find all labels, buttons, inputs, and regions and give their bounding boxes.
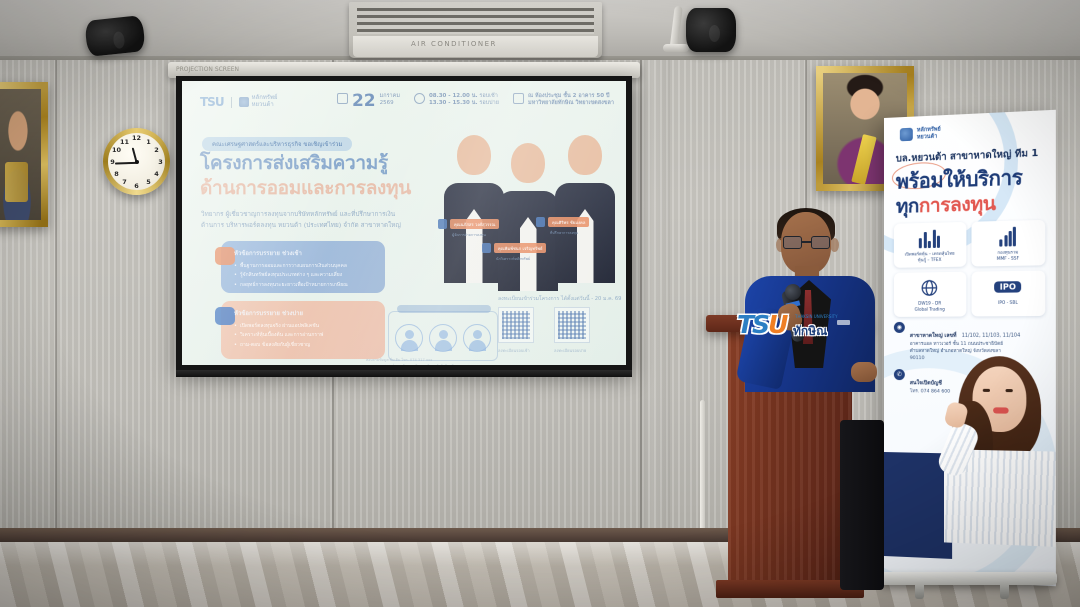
podium-logo: TSU THAKSIN UNIVERSITY ทักษิณ bbox=[737, 310, 841, 342]
speaker-photo bbox=[444, 135, 504, 283]
time-note-2: รอบบ่าย bbox=[479, 100, 499, 106]
slide-badge: คณะเศรษฐศาสตร์และบริหารธุรกิจ ขอเชิญเข้า… bbox=[202, 137, 352, 151]
speaker-legs bbox=[840, 420, 884, 590]
royal-sash bbox=[851, 134, 877, 185]
yuanta-mark-icon bbox=[900, 128, 913, 142]
yuanta-line2: หยวนต้า bbox=[252, 101, 274, 108]
yuanta-text: หลักทรัพย์ หยวนต้า bbox=[252, 95, 278, 109]
eye bbox=[1006, 389, 1013, 392]
panel-title: หัวข้อการบรรยาย ช่วงเช้า bbox=[234, 248, 376, 258]
ipo-badge: IPO bbox=[995, 281, 1022, 293]
date-month-year: มกราคม 2569 bbox=[380, 93, 400, 107]
head bbox=[511, 143, 545, 183]
speaker-role: ผู้จัดการฝ่ายการลงทุน bbox=[452, 232, 486, 238]
yuanta-mark-icon bbox=[239, 97, 249, 107]
banner-card[interactable]: DW19 - DR Global Trading bbox=[894, 272, 966, 317]
slide-subtitle-line-2: ด้านการ บริหารพอร์ตลงทุน หยวนต้า (ประเทศ… bbox=[201, 220, 401, 231]
clock-icon bbox=[414, 93, 425, 104]
panel-tab-icon bbox=[215, 247, 235, 265]
panel-item: พื้นฐานการออมและการวางแผนการเงินส่วนบุคค… bbox=[234, 262, 376, 271]
head bbox=[457, 135, 491, 175]
slide-title: โครงการส่งเสริมความรู้ ด้านการออมและการล… bbox=[200, 151, 411, 201]
royal-portrait-frame-left bbox=[0, 82, 48, 227]
seminar-room-scene: AIR CONDITIONER 12 1 2 3 4 5 6 7 8 9 10 … bbox=[0, 0, 1080, 607]
slide-tsu-logo: TSU bbox=[200, 95, 224, 109]
wall-seam bbox=[640, 60, 642, 540]
panel-title: หัวข้อการบรรยาย ช่วงบ่าย bbox=[234, 308, 376, 318]
banner-headline-2: ทุกการลงทุน bbox=[896, 188, 996, 221]
avatar bbox=[395, 324, 423, 352]
slide-date: 22 มกราคม 2569 bbox=[337, 93, 400, 109]
banner-card-text: IPO - SBL bbox=[974, 300, 1042, 307]
banner-headline-2-prefix: ทุก bbox=[896, 195, 919, 218]
bridge bbox=[802, 241, 811, 243]
banner-stand-base bbox=[881, 572, 1057, 585]
rollup-banner: หลักทรัพย์ หยวนต้า บล.หยวนต้า สาขาหาดใหญ… bbox=[884, 110, 1056, 586]
panel-tab-icon bbox=[215, 307, 235, 325]
clock-number: 2 bbox=[152, 146, 162, 154]
avatar bbox=[463, 324, 491, 352]
card-line-2: Global Trading bbox=[915, 307, 945, 312]
slide-subtitle: วิทยากร ผู้เชี่ยวชาญการลงทุนจากบริษัทหลั… bbox=[201, 209, 401, 231]
avatar-row bbox=[395, 324, 491, 352]
air-conditioner: AIR CONDITIONER bbox=[349, 2, 602, 58]
nametag-icon bbox=[536, 217, 545, 227]
eye bbox=[983, 389, 990, 392]
clock-number: 6 bbox=[132, 182, 142, 190]
speaker-name-tag: คุณพิมพ์ชนก เจริญทรัพย์ bbox=[494, 243, 546, 253]
avatar bbox=[429, 324, 457, 352]
banner-card[interactable]: เปิดพอร์ตหุ้น – เทรดหุ้นไทย หุ้นกู้ – TF… bbox=[894, 222, 966, 268]
qr-caption: ลงทะเบียนรอบเช้า bbox=[498, 347, 530, 354]
banner-model-photo bbox=[942, 344, 1056, 542]
card-line-1: กองทุนรวม bbox=[997, 249, 1018, 255]
wall-seam bbox=[55, 60, 57, 540]
speaker-name-tag: คุณศิริพร ชัยมงคล bbox=[548, 217, 589, 227]
wall-speaker-icon bbox=[84, 15, 145, 57]
card-line-1: เปิดพอร์ตหุ้น – เทรดหุ้นไทย bbox=[905, 251, 955, 257]
slide-time: 08.30 - 12.00 น. รอบเช้า 13.30 - 15.30 น… bbox=[414, 93, 499, 107]
ac-grille-icon bbox=[357, 8, 594, 34]
speakers-box-label-bar bbox=[397, 305, 491, 313]
projection-screen-weight-bar bbox=[176, 370, 632, 377]
nametag-icon bbox=[482, 243, 491, 253]
card-line-2: MMF - SSF bbox=[997, 256, 1019, 262]
presenter bbox=[745, 212, 875, 392]
banner-logo: หลักทรัพย์ หยวนต้า bbox=[900, 126, 941, 141]
slide-logos: TSU หลักทรัพย์ หยวนต้า bbox=[200, 95, 278, 109]
bar-chart-icon bbox=[897, 228, 963, 249]
portrait-image bbox=[0, 89, 41, 220]
date-month: มกราคม bbox=[380, 93, 400, 99]
panel-item: กลยุทธ์การลงทุนระยะยาวเพื่อเป้าหมายการเก… bbox=[234, 281, 376, 290]
address-number: 11/102, 11/103, 11/104 bbox=[962, 334, 1021, 339]
banner-card[interactable]: กองทุนรวม MMF - SSF bbox=[971, 220, 1045, 267]
address-label: สาขาหาดใหญ่ เลขที่ bbox=[910, 333, 957, 339]
banner-card[interactable]: IPO IPO - SBL bbox=[971, 271, 1045, 317]
clock-number: 1 bbox=[144, 138, 154, 146]
speaker-name-tag: คุณนภัสสร วงศ์สุวรรณ bbox=[450, 219, 499, 229]
growth-chart-icon bbox=[974, 226, 1042, 247]
banner-stand-foot bbox=[1000, 582, 1009, 599]
banner-stand-foot bbox=[915, 582, 924, 599]
ipo-icon: IPO bbox=[974, 277, 1042, 297]
speaker-role: ที่ปรึกษาการลงทุน bbox=[550, 230, 578, 236]
wall-clock: 12 1 2 3 4 5 6 7 8 9 10 11 bbox=[103, 128, 170, 195]
logo-divider bbox=[231, 97, 232, 108]
speaker-role: นักวิเคราะห์หลักทรัพย์ bbox=[496, 256, 530, 262]
globe-icon bbox=[897, 278, 963, 298]
contact-label: สนใจเปิดบัญชี bbox=[910, 381, 942, 387]
banner-logo-text: หลักทรัพย์ หยวนต้า bbox=[917, 126, 941, 140]
podium-tsu-text: TSU bbox=[737, 310, 786, 339]
slide-speakers-box bbox=[388, 311, 498, 361]
podium-tsu-u: U bbox=[768, 310, 786, 339]
clock-number: 8 bbox=[112, 170, 122, 178]
clock-number: 10 bbox=[112, 146, 122, 154]
qr-pattern-icon bbox=[558, 311, 586, 339]
podium-logo-en: THAKSIN UNIVERSITY bbox=[795, 314, 838, 319]
banner-headline-2-accent: การลงทุน bbox=[919, 192, 996, 217]
clock-number: 11 bbox=[120, 138, 130, 146]
panel-item: วิเคราะห์หุ้นเบื้องต้น และการอ่านกราฟ bbox=[234, 331, 376, 340]
mouth bbox=[993, 407, 1009, 413]
qr-code-morning[interactable] bbox=[498, 307, 534, 343]
banner-card-text: เปิดพอร์ตหุ้น – เทรดหุ้นไทย หุ้นกู้ – TF… bbox=[897, 250, 963, 264]
shirt bbox=[520, 217, 537, 291]
clock-face: 12 1 2 3 4 5 6 7 8 9 10 11 bbox=[108, 133, 165, 190]
speaker-photo bbox=[555, 135, 615, 283]
time-note-1: รอบเช้า bbox=[479, 93, 497, 99]
slide-canvas: TSU หลักทรัพย์ หยวนต้า 22 มกราคม 256 bbox=[182, 81, 626, 365]
clock-minute-hand bbox=[114, 162, 136, 165]
clock-number: 7 bbox=[120, 178, 130, 186]
time-afternoon: 13.30 - 15.30 น. bbox=[429, 100, 478, 106]
right-hand bbox=[851, 362, 877, 382]
venue-line-1: ณ ห้องประชุม ชั้น 2 อาคาร 50 ปี bbox=[528, 93, 610, 99]
qr-caption: ลงทะเบียนรอบบ่าย bbox=[554, 347, 586, 354]
venue-block: ณ ห้องประชุม ชั้น 2 อาคาร 50 ปี มหาวิทยา… bbox=[528, 93, 614, 107]
podium-logo-thai: ทักษิณ bbox=[793, 322, 827, 341]
clock-number: 12 bbox=[132, 134, 142, 142]
clock-number: 5 bbox=[144, 178, 154, 186]
location-pin-icon bbox=[513, 93, 524, 104]
time-block: 08.30 - 12.00 น. รอบเช้า 13.30 - 15.30 น… bbox=[429, 93, 499, 107]
screen-case-label: PROJECTION SCREEN bbox=[176, 66, 239, 73]
eyeglasses-icon bbox=[783, 236, 830, 249]
lens bbox=[811, 236, 830, 249]
wall-column bbox=[640, 60, 670, 540]
slide-panel-afternoon: หัวข้อการบรรยาย ช่วงบ่าย เปิดพอร์ตลงทุนจ… bbox=[221, 301, 385, 359]
banner-card-text: DW19 - DR Global Trading bbox=[897, 300, 963, 313]
calendar-icon bbox=[337, 93, 348, 104]
qr-row: ลงทะเบียนรอบเช้า ลงทะเบียนรอบบ่าย bbox=[498, 307, 590, 343]
panel-item: รู้จักสินทรัพย์ลงทุนประเภทต่าง ๆ และความ… bbox=[234, 271, 376, 280]
card-line-2: หุ้นกู้ – TFEX bbox=[918, 257, 942, 262]
ear bbox=[830, 238, 839, 252]
lens bbox=[783, 236, 802, 249]
slide-title-line-1: โครงการส่งเสริมความรู้ bbox=[200, 151, 411, 176]
nametag-icon bbox=[438, 219, 447, 229]
clock-number: 4 bbox=[152, 170, 162, 178]
date-day: 22 bbox=[352, 93, 376, 109]
projection-screen: TSU หลักทรัพย์ หยวนต้า 22 มกราคม 256 bbox=[176, 76, 632, 370]
date-year: 2569 bbox=[380, 100, 394, 106]
slide-meta: 22 มกราคม 2569 08.30 - 12.00 น. รอบเช้า … bbox=[337, 93, 614, 109]
clock-number: 3 bbox=[156, 158, 166, 166]
projector-mount-bracket bbox=[663, 44, 689, 52]
time-morning: 08.30 - 12.00 น. bbox=[429, 93, 478, 99]
phone-icon: ✆ bbox=[894, 369, 905, 380]
head bbox=[568, 135, 602, 175]
qr-code-afternoon[interactable] bbox=[554, 307, 590, 343]
slide-subtitle-line-1: วิทยากร ผู้เชี่ยวชาญการลงทุนจากบริษัทหลั… bbox=[201, 209, 401, 220]
banner-service-cards: เปิดพอร์ตหุ้น – เทรดหุ้นไทย หุ้นกู้ – TF… bbox=[894, 220, 1045, 317]
card-line-1: DW19 - DR bbox=[918, 301, 941, 306]
slide-title-line-2: ด้านการออมและการลงทุน bbox=[200, 176, 411, 201]
qr-heading: ลงทะเบียนเข้าร่วมโครงการ ได้ตั้งแต่วันนี… bbox=[498, 295, 621, 303]
slide-footer-line-2: คณะเศรษฐศาสตร์และบริหารธุรกิจ มหาวิทยาลั… bbox=[366, 363, 500, 365]
location-pin-icon: ◉ bbox=[894, 322, 905, 333]
ac-brand-label: AIR CONDITIONER bbox=[411, 40, 497, 48]
slide-panel-morning: หัวข้อการบรรยาย ช่วงเช้า พื้นฐานการออมแล… bbox=[221, 241, 385, 293]
slide-speaker-photos: คุณนภัสสร วงศ์สุวรรณ ผู้จัดการฝ่ายการลงท… bbox=[440, 115, 622, 283]
card-line-2: IPO - SBL bbox=[998, 300, 1018, 305]
panel-item: เปิดพอร์ตลงทุนจริง ผ่านแอปพลิเคชัน bbox=[234, 322, 376, 331]
slide-venue: ณ ห้องประชุม ชั้น 2 อาคาร 50 ปี มหาวิทยา… bbox=[513, 93, 614, 107]
slide-footer: สอบถามข้อมูลเพิ่มเติม โทร. 074 317 xxx ค… bbox=[366, 357, 500, 365]
venue-line-2: มหาวิทยาลัยทักษิณ วิทยาเขตสงขลา bbox=[528, 100, 614, 106]
slide-yuanta-logo: หลักทรัพย์ หยวนต้า bbox=[239, 95, 278, 109]
qr-pattern-icon bbox=[502, 311, 530, 339]
wall-speaker-icon bbox=[686, 8, 736, 52]
banner-card-text: กองทุนรวม MMF - SSF bbox=[974, 249, 1042, 263]
panel-item: ถาม-ตอบ ข้อสงสัยกับผู้เชี่ยวชาญ bbox=[234, 341, 376, 350]
banner-logo-line-2: หยวนต้า bbox=[917, 133, 937, 140]
clock-center-pin bbox=[135, 160, 139, 164]
